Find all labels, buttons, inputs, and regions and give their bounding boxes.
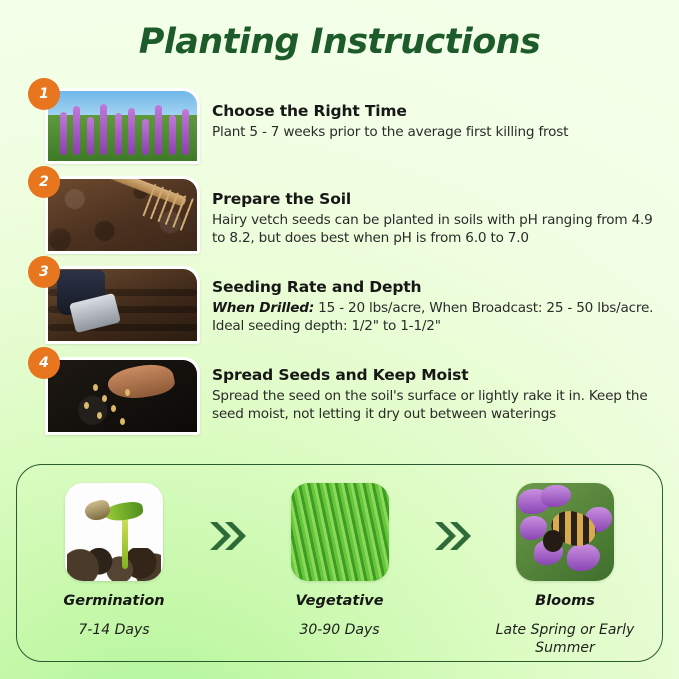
lifecycle-panel: Germination 7-14 Days Vegetative 30-90 D… [16, 464, 663, 662]
lifecycle-duration-germination: 7-14 Days [78, 622, 149, 640]
step-1-heading: Choose the Right Time [212, 102, 667, 120]
lifecycle-stage-row: Germination 7-14 Days Vegetative 30-90 D… [17, 465, 662, 661]
green-vetch-foliage-photo [291, 483, 389, 581]
lifecycle-duration-blooms: Late Spring or Early Summer [490, 622, 640, 658]
step-2-body-text: Hairy vetch seeds can be planted in soil… [212, 212, 653, 246]
step-2-body: Hairy vetch seeds can be planted in soil… [212, 211, 667, 247]
step-4-number-badge: 4 [28, 347, 60, 379]
step-3-thumbnail: 3 [45, 266, 200, 344]
step-3-body-lead: When Drilled: [212, 300, 314, 316]
lifecycle-arrow-2 [424, 483, 480, 553]
lifecycle-stage-blooms: Blooms Late Spring or Early Summer [490, 483, 640, 658]
step-1-text: Choose the Right Time Plant 5 - 7 weeks … [212, 102, 667, 141]
step-4-heading: Spread Seeds and Keep Moist [212, 366, 667, 384]
hand-sowing-seeds-photo [48, 360, 197, 432]
rake-in-soil-photo [48, 179, 197, 251]
double-chevron-right-icon [207, 519, 247, 553]
lifecycle-stage-germination: Germination 7-14 Days [39, 483, 189, 640]
step-1-body: Plant 5 - 7 weeks prior to the average f… [212, 123, 667, 141]
lifecycle-stage-vegetative: Vegetative 30-90 Days [265, 483, 415, 640]
step-4-text: Spread Seeds and Keep Moist Spread the s… [212, 366, 667, 423]
bee-on-vetch-bloom-photo [516, 483, 614, 581]
page-title: Planting Instructions [0, 22, 679, 62]
step-3-body: When Drilled: 15 - 20 lbs/acre, When Bro… [212, 299, 667, 335]
step-2-text: Prepare the Soil Hairy vetch seeds can b… [212, 190, 667, 247]
step-4-thumbnail: 4 [45, 357, 200, 435]
step-2-thumbnail: 2 [45, 176, 200, 254]
step-3-number-badge: 3 [28, 256, 60, 288]
step-3-heading: Seeding Rate and Depth [212, 278, 667, 296]
double-chevron-right-icon [432, 519, 472, 553]
step-4-body: Spread the seed on the soil's surface or… [212, 387, 667, 423]
step-1-thumbnail: 1 [45, 88, 200, 164]
step-1-body-text: Plant 5 - 7 weeks prior to the average f… [212, 124, 568, 140]
step-3-text: Seeding Rate and Depth When Drilled: 15 … [212, 278, 667, 335]
sprouting-seedling-photo [65, 483, 163, 581]
hairy-vetch-purple-flowers-photo [48, 91, 197, 161]
step-1-number-badge: 1 [28, 78, 60, 110]
infographic-page: Planting Instructions 1 [0, 0, 679, 679]
step-2-heading: Prepare the Soil [212, 190, 667, 208]
boot-and-spade-furrow-photo [48, 269, 197, 341]
lifecycle-duration-vegetative: 30-90 Days [299, 622, 379, 640]
lifecycle-name-germination: Germination [63, 593, 164, 609]
lifecycle-name-blooms: Blooms [535, 593, 595, 609]
lifecycle-arrow-1 [199, 483, 255, 553]
lifecycle-name-vegetative: Vegetative [295, 593, 383, 609]
step-4-body-text: Spread the seed on the soil's surface or… [212, 388, 648, 422]
step-2-number-badge: 2 [28, 166, 60, 198]
